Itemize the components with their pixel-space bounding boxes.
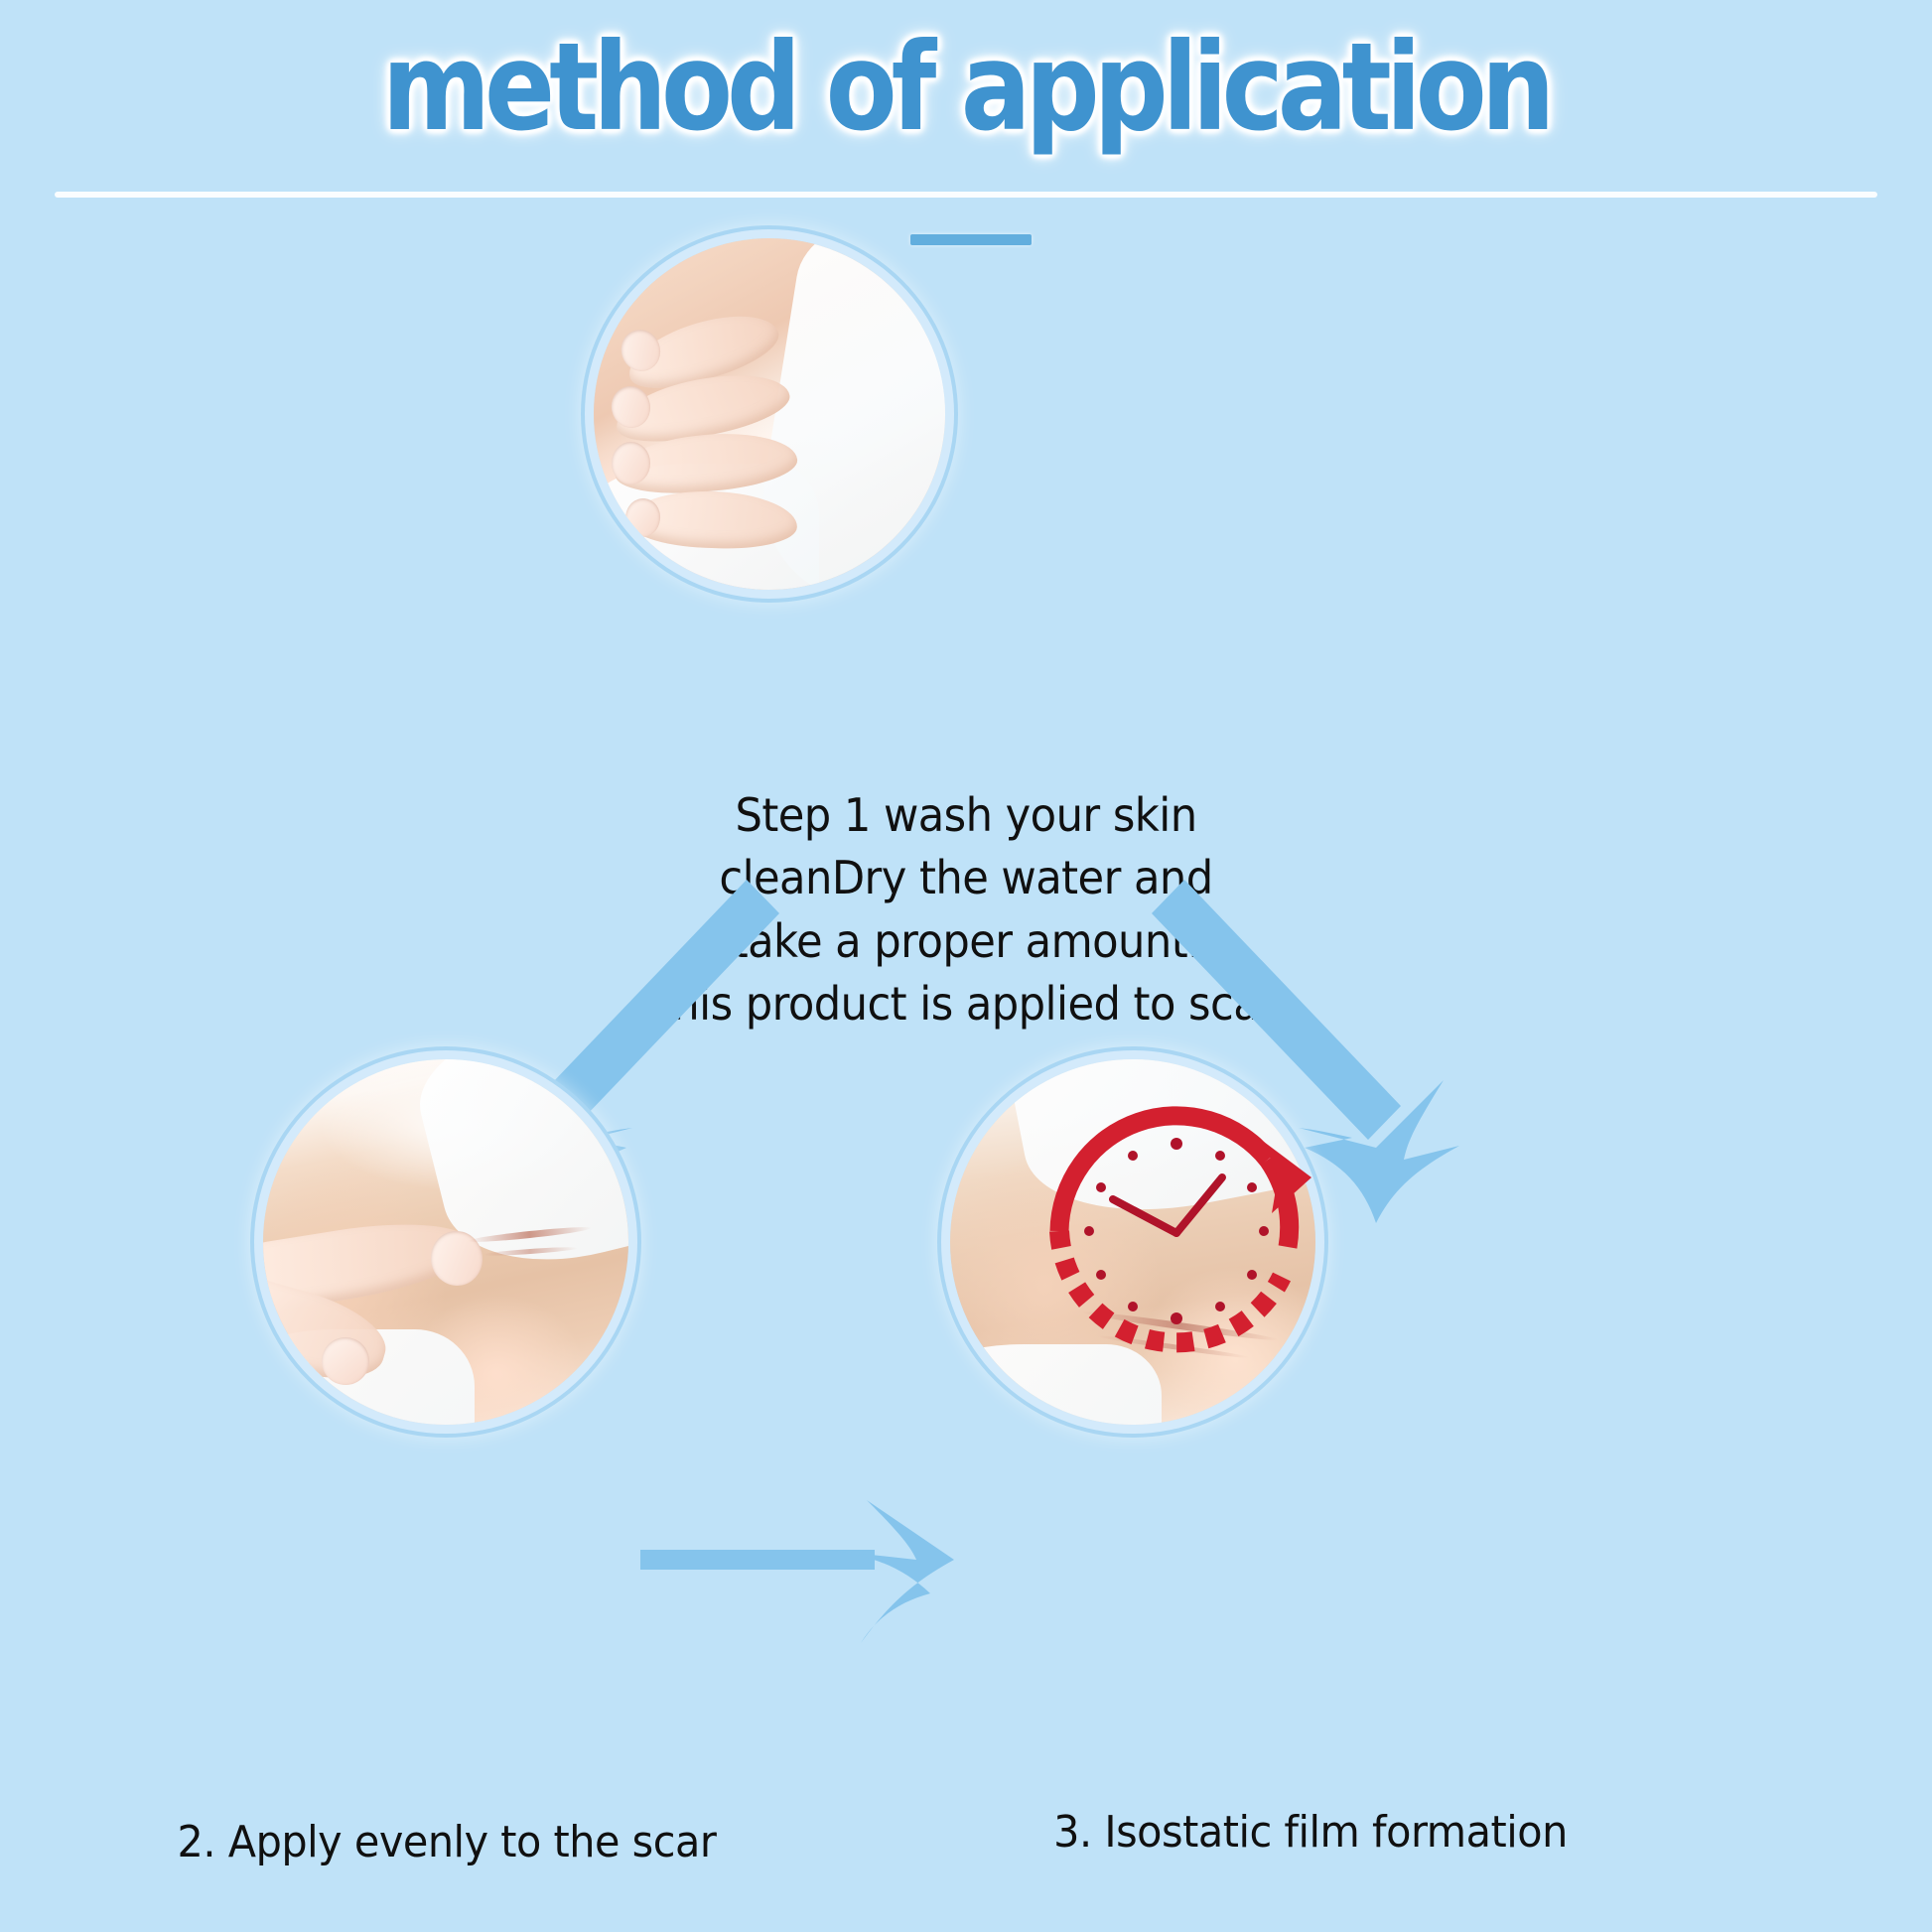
fingernail-shape	[612, 442, 650, 483]
step-3-photo	[950, 1059, 1315, 1425]
step-3-caption: 3. Isostatic film formation	[1022, 1807, 1600, 1858]
step-2-image-circle	[263, 1059, 628, 1425]
page-title-container: method of application	[0, 24, 1932, 151]
poster-canvas: method of application Step 1 wash your s…	[0, 0, 1932, 1932]
step-1-line-1: Step 1 wash your skin	[499, 784, 1433, 847]
page-title: method of application	[382, 24, 1550, 151]
step-1-photo	[594, 238, 945, 590]
step-2-caption: 2. Apply evenly to the scar	[158, 1817, 737, 1867]
step-2-photo	[263, 1059, 628, 1425]
step-3-image-circle	[950, 1059, 1315, 1425]
header-divider	[55, 192, 1877, 198]
garment-shape-lower	[950, 1344, 1162, 1425]
step-1-image-circle	[594, 238, 945, 590]
garment-shape	[998, 1059, 1315, 1235]
arrow-step2-to-step3	[640, 1494, 968, 1643]
